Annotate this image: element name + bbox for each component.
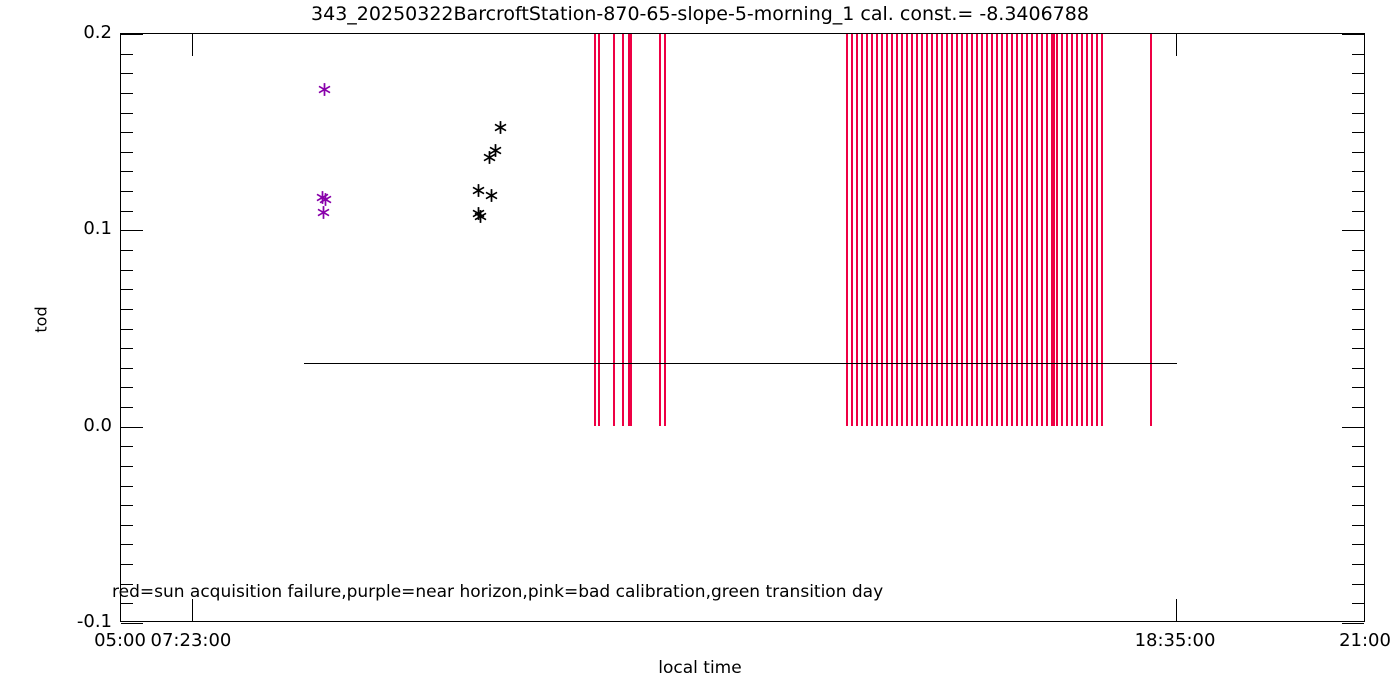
x-tick-label: 18:35:00 — [1115, 630, 1235, 651]
x-tick-major — [1176, 599, 1177, 621]
y-tick-minor — [121, 309, 133, 310]
y-tick-minor-right — [1352, 93, 1364, 94]
y-tick-minor-right — [1352, 309, 1364, 310]
x-tick-label: 07:23:00 — [131, 630, 251, 651]
y-axis-label: tod — [32, 297, 51, 343]
y-tick-minor-right — [1352, 113, 1364, 114]
y-tick-minor-right — [1352, 171, 1364, 172]
y-tick-minor — [121, 603, 133, 604]
chart-title: 343_20250322BarcroftStation-870-65-slope… — [0, 3, 1400, 25]
y-tick-minor — [121, 486, 133, 487]
y-tick-major — [121, 230, 143, 231]
y-tick-minor-right — [1352, 407, 1364, 408]
y-tick-minor — [121, 73, 133, 74]
y-tick-minor — [121, 387, 133, 388]
y-tick-minor-right — [1352, 250, 1364, 251]
y-tick-label: 0.1 — [20, 218, 112, 239]
y-tick-minor-right — [1352, 73, 1364, 74]
y-tick-minor-right — [1352, 387, 1364, 388]
y-tick-minor-right — [1352, 603, 1364, 604]
y-tick-minor — [121, 329, 133, 330]
y-tick-major — [121, 623, 143, 624]
y-tick-major-right — [1342, 230, 1364, 231]
y-tick-minor — [121, 250, 133, 251]
y-tick-minor-right — [1352, 348, 1364, 349]
y-tick-minor-right — [1352, 446, 1364, 447]
y-tick-minor — [121, 544, 133, 545]
y-tick-minor-right — [1352, 486, 1364, 487]
y-tick-minor — [121, 466, 133, 467]
y-tick-minor — [121, 348, 133, 349]
y-tick-minor — [121, 171, 133, 172]
y-tick-minor — [121, 525, 133, 526]
y-tick-minor — [121, 191, 133, 192]
y-tick-minor — [121, 505, 133, 506]
y-tick-major — [121, 34, 143, 35]
y-tick-minor-right — [1352, 54, 1364, 55]
y-tick-minor-right — [1352, 211, 1364, 212]
y-tick-minor-right — [1352, 152, 1364, 153]
y-tick-minor-right — [1352, 564, 1364, 565]
y-tick-major — [121, 427, 143, 428]
y-tick-minor — [121, 446, 133, 447]
y-tick-minor — [121, 407, 133, 408]
y-tick-minor-right — [1352, 525, 1364, 526]
x-axis-label: local time — [0, 658, 1400, 678]
y-tick-minor — [121, 132, 133, 133]
y-tick-label: -0.1 — [20, 611, 112, 632]
y-tick-minor — [121, 270, 133, 271]
y-tick-minor-right — [1352, 289, 1364, 290]
y-tick-major-right — [1342, 427, 1364, 428]
y-tick-minor-right — [1352, 544, 1364, 545]
y-tick-label: 0.0 — [20, 415, 112, 436]
y-tick-minor — [121, 211, 133, 212]
plot-frame — [120, 33, 1365, 622]
x-tick-major-top — [192, 34, 193, 56]
x-tick-major — [192, 599, 193, 621]
y-tick-minor — [121, 93, 133, 94]
chart-root: 343_20250322BarcroftStation-870-65-slope… — [0, 0, 1400, 700]
y-tick-label: 0.2 — [20, 22, 112, 43]
y-tick-major-right — [1342, 34, 1364, 35]
y-tick-minor-right — [1352, 329, 1364, 330]
y-tick-minor-right — [1352, 270, 1364, 271]
y-tick-minor-right — [1352, 191, 1364, 192]
y-tick-minor — [121, 113, 133, 114]
y-tick-minor-right — [1352, 466, 1364, 467]
y-tick-minor — [121, 584, 133, 585]
y-tick-minor-right — [1352, 584, 1364, 585]
y-tick-minor — [121, 368, 133, 369]
y-tick-minor-right — [1352, 132, 1364, 133]
y-tick-minor — [121, 289, 133, 290]
y-tick-minor — [121, 152, 133, 153]
y-tick-minor — [121, 564, 133, 565]
x-tick-label: 21:00 — [1305, 630, 1400, 651]
y-tick-minor-right — [1352, 368, 1364, 369]
y-tick-minor-right — [1352, 505, 1364, 506]
y-tick-minor — [121, 54, 133, 55]
y-tick-major-right — [1342, 623, 1364, 624]
x-tick-major-top — [1176, 34, 1177, 56]
